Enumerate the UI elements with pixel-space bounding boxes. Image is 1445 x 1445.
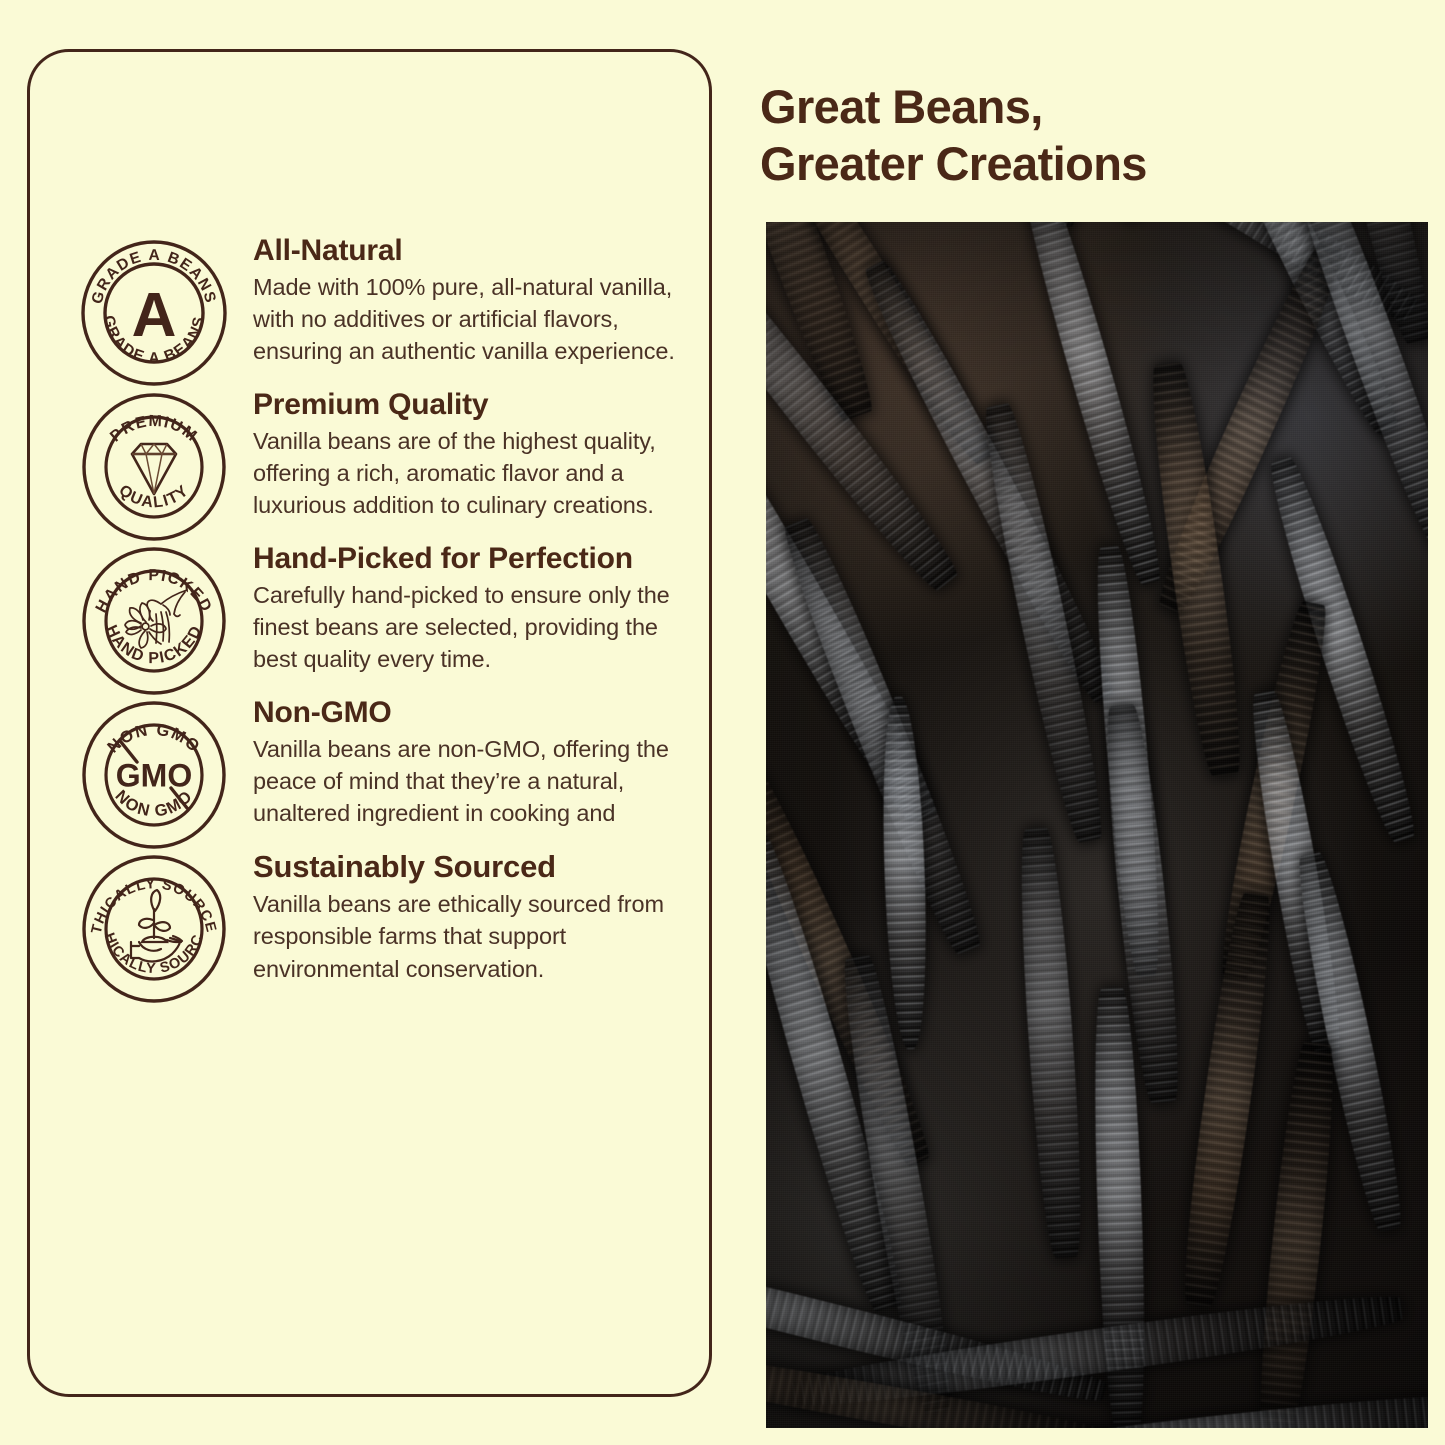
features-list: GRADE A BEANS GRADE A BEANS A All-Natura… bbox=[30, 52, 709, 1394]
hand-picking-flower-icon: HAND PICKED HAND PICKED bbox=[79, 546, 229, 696]
svg-text:HAND PICKED: HAND PICKED bbox=[102, 623, 206, 667]
feature-text: Premium Quality Vanilla beans are of the… bbox=[230, 388, 695, 522]
badge-grade-a-beans: GRADE A BEANS GRADE A BEANS A bbox=[78, 234, 230, 388]
no-gmo-icon: NON GMO NON GMO GMO bbox=[79, 700, 229, 850]
feature-title: All-Natural bbox=[253, 234, 695, 268]
feature-description: Vanilla beans are of the highest quality… bbox=[253, 425, 695, 522]
feature-description: Vanilla beans are non-GMO, offering the … bbox=[253, 733, 695, 830]
badge-non-gmo: NON GMO NON GMO GMO bbox=[78, 696, 230, 850]
feature-description: Vanilla beans are ethically sourced from… bbox=[253, 888, 695, 985]
feature-text: All-Natural Made with 100% pure, all-nat… bbox=[230, 234, 695, 368]
hand-holding-sprout-icon: ETHICALLY SOURCED ETHICALLY SOURCED bbox=[79, 854, 229, 1004]
feature-item-hand-picked: HAND PICKED HAND PICKED bbox=[30, 542, 709, 696]
feature-title: Sustainably Sourced bbox=[253, 850, 695, 885]
feature-title: Premium Quality bbox=[253, 388, 695, 422]
feature-title: Non-GMO bbox=[253, 696, 695, 730]
feature-title: Hand-Picked for Perfection bbox=[253, 542, 695, 576]
feature-text: Sustainably Sourced Vanilla beans are et… bbox=[230, 850, 695, 985]
features-card: GRADE A BEANS GRADE A BEANS A All-Natura… bbox=[27, 49, 712, 1397]
badge-hand-picked: HAND PICKED HAND PICKED bbox=[78, 542, 230, 696]
feature-description: Carefully hand-picked to ensure only the… bbox=[253, 579, 695, 676]
headline-line-2: Greater Creations bbox=[760, 135, 1430, 192]
badge-ethically-sourced: ETHICALLY SOURCED ETHICALLY SOURCED bbox=[78, 850, 230, 1004]
feature-item-all-natural: GRADE A BEANS GRADE A BEANS A All-Natura… bbox=[30, 234, 709, 388]
page-title: Great Beans, Greater Creations bbox=[760, 78, 1430, 193]
vanilla-bean-photo bbox=[766, 222, 1428, 1428]
svg-text:HAND PICKED: HAND PICKED bbox=[93, 567, 215, 615]
feature-item-premium-quality: PREMIUM QUALITY bbox=[30, 388, 709, 542]
photo-pod-layer bbox=[766, 222, 1428, 1428]
badge-center-text: GMO bbox=[116, 758, 192, 794]
badge-premium-quality: PREMIUM QUALITY bbox=[78, 388, 230, 542]
feature-item-sustainably-sourced: ETHICALLY SOURCED ETHICALLY SOURCED bbox=[30, 850, 709, 1004]
diamond-gem-icon: PREMIUM QUALITY bbox=[79, 392, 229, 542]
infographic-page: GRADE A BEANS GRADE A BEANS A All-Natura… bbox=[0, 0, 1445, 1445]
badge-center-letter: A bbox=[132, 281, 177, 350]
letter-a-grade-icon: GRADE A BEANS GRADE A BEANS A bbox=[79, 238, 229, 388]
svg-text:ETHICALLY SOURCED: ETHICALLY SOURCED bbox=[79, 854, 219, 935]
feature-text: Non-GMO Vanilla beans are non-GMO, offer… bbox=[230, 696, 695, 830]
feature-description: Made with 100% pure, all-natural vanilla… bbox=[253, 271, 695, 368]
feature-item-non-gmo: NON GMO NON GMO GMO Non-GMO bbox=[30, 696, 709, 850]
headline-line-1: Great Beans, bbox=[760, 78, 1430, 135]
feature-text: Hand-Picked for Perfection Carefully han… bbox=[230, 542, 695, 676]
